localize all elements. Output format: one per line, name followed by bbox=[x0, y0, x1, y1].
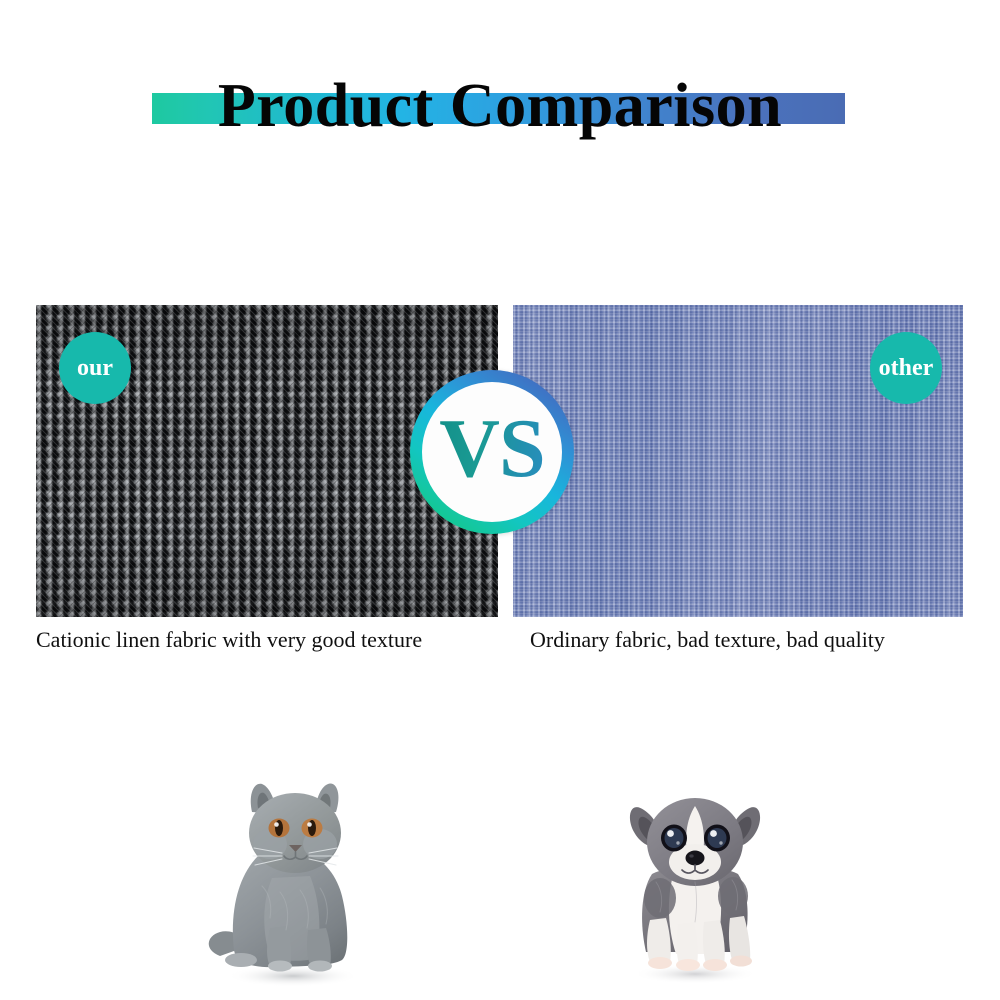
vs-medallion-inner: VS bbox=[422, 382, 562, 522]
product-comparison-page: Product Comparison our other VS Cationic… bbox=[0, 0, 1000, 1000]
caption-our: Cationic linen fabric with very good tex… bbox=[36, 625, 422, 655]
captions-row: Cationic linen fabric with very good tex… bbox=[0, 625, 1000, 659]
caption-other: Ordinary fabric, bad texture, bad qualit… bbox=[530, 625, 885, 655]
page-title-block: Product Comparison bbox=[0, 66, 1000, 146]
gray-cat-photo bbox=[196, 760, 386, 990]
vs-label: VS bbox=[439, 407, 544, 497]
badge-other-label: other bbox=[879, 355, 934, 382]
badge-other: other bbox=[870, 332, 942, 404]
page-title: Product Comparison bbox=[0, 66, 1000, 146]
pets-row bbox=[0, 740, 1000, 990]
badge-our-label: our bbox=[77, 355, 113, 382]
chihuahua-puppy-photo bbox=[600, 770, 790, 985]
vs-medallion: VS bbox=[410, 370, 574, 534]
badge-our: our bbox=[59, 332, 131, 404]
